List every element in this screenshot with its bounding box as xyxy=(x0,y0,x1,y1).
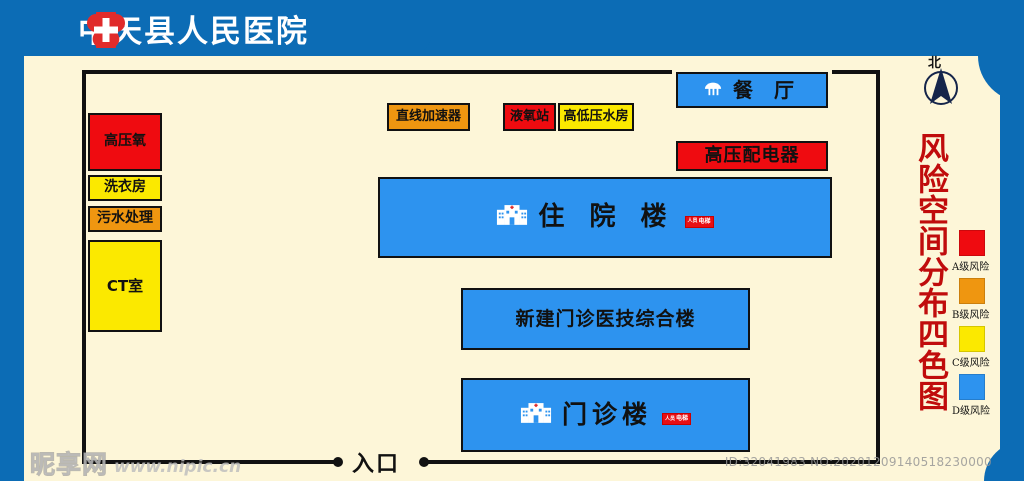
red-cross-icon xyxy=(84,12,128,48)
elevator-badge-label: 电梯 xyxy=(699,219,711,225)
elevator-badge: 人员电梯 xyxy=(662,413,691,425)
restaurant-icon xyxy=(703,79,723,101)
map-block-xinjian[interactable]: 新建门诊医技综合楼 xyxy=(461,288,750,350)
map-block-label: 直线加速器 xyxy=(396,110,461,124)
watermark-site-url: www.nipic.cn xyxy=(114,457,241,477)
map-block-label: 高压配电器 xyxy=(705,146,800,166)
elevator-badge: 人员电梯 xyxy=(685,216,714,228)
entrance-label: 入口 xyxy=(352,446,400,478)
map-block-gaoyayang[interactable]: 高压氧 xyxy=(88,113,162,171)
gate-marker-right xyxy=(419,457,429,467)
map-block-jiasuqi[interactable]: 直线加速器 xyxy=(387,103,470,131)
map-block-label: 住 院 楼 xyxy=(538,203,674,232)
map-block-ct[interactable]: CT室 xyxy=(88,240,162,332)
map-block-shuifang[interactable]: 高低压水房 xyxy=(558,103,634,131)
map-block-label: 高低压水房 xyxy=(563,110,628,124)
legend-swatch-b xyxy=(959,278,985,304)
legend-label-d: D级风险 xyxy=(952,402,1018,417)
map-block-label: CT室 xyxy=(107,278,143,295)
map-block-label: 污水处理 xyxy=(97,211,153,226)
hospital-building-icon xyxy=(520,400,552,431)
map-block-label: 高压氧 xyxy=(104,134,146,149)
legend-swatch-a xyxy=(959,230,985,256)
legend-item-c: C级风险 xyxy=(952,326,1018,369)
legend-label-a: A级风险 xyxy=(952,258,1018,273)
watermark-site: 昵享网 www.nipic.cn xyxy=(30,452,241,477)
map-block-yeyang[interactable]: 液氧站 xyxy=(503,103,556,131)
map-block-peidianqi[interactable]: 高压配电器 xyxy=(676,141,828,171)
risk-legend: A级风险 B级风险 C级风险 D级风险 xyxy=(952,230,1018,422)
map-block-label: 餐 厅 xyxy=(733,79,801,101)
legend-label-b: B级风险 xyxy=(952,306,1018,321)
map-block-label: 液氧站 xyxy=(510,110,549,124)
map-block-canting[interactable]: 餐 厅 xyxy=(676,72,828,108)
legend-item-b: B级风险 xyxy=(952,278,1018,321)
side-vertical-title: 风险空间分布四色图 xyxy=(905,132,945,411)
watermark-site-name: 昵享网 xyxy=(30,452,108,477)
header-banner: 中天县人民医院 xyxy=(0,0,432,56)
gate-marker-left xyxy=(333,457,343,467)
map-block-zhuyuanlou[interactable]: 住 院 楼 人员电梯 xyxy=(378,177,832,258)
legend-swatch-d xyxy=(959,374,985,400)
map-block-xiyifang[interactable]: 洗衣房 xyxy=(88,175,162,201)
map-block-wushui[interactable]: 污水处理 xyxy=(88,206,162,232)
hospital-risk-map-poster: 中天县人民医院 入口 高压氧 洗衣房 污水处理 CT室 直线加速器 液氧站 高低… xyxy=(0,0,1024,481)
compass-north-icon xyxy=(920,56,962,118)
map-block-label: 门诊楼 xyxy=(562,401,652,429)
map-block-label: 洗衣房 xyxy=(104,180,146,195)
map-block-menzhenlou[interactable]: 门诊楼 人员电梯 xyxy=(461,378,750,452)
hospital-building-icon xyxy=(496,202,528,234)
legend-item-a: A级风险 xyxy=(952,230,1018,273)
legend-item-d: D级风险 xyxy=(952,374,1018,417)
elevator-badge-label: 电梯 xyxy=(676,416,688,422)
watermark-id: ID:32041983 NO:20201209140518230000 xyxy=(725,455,992,469)
legend-swatch-c xyxy=(959,326,985,352)
map-block-label: 新建门诊医技综合楼 xyxy=(515,309,695,330)
legend-label-c: C级风险 xyxy=(952,354,1018,369)
